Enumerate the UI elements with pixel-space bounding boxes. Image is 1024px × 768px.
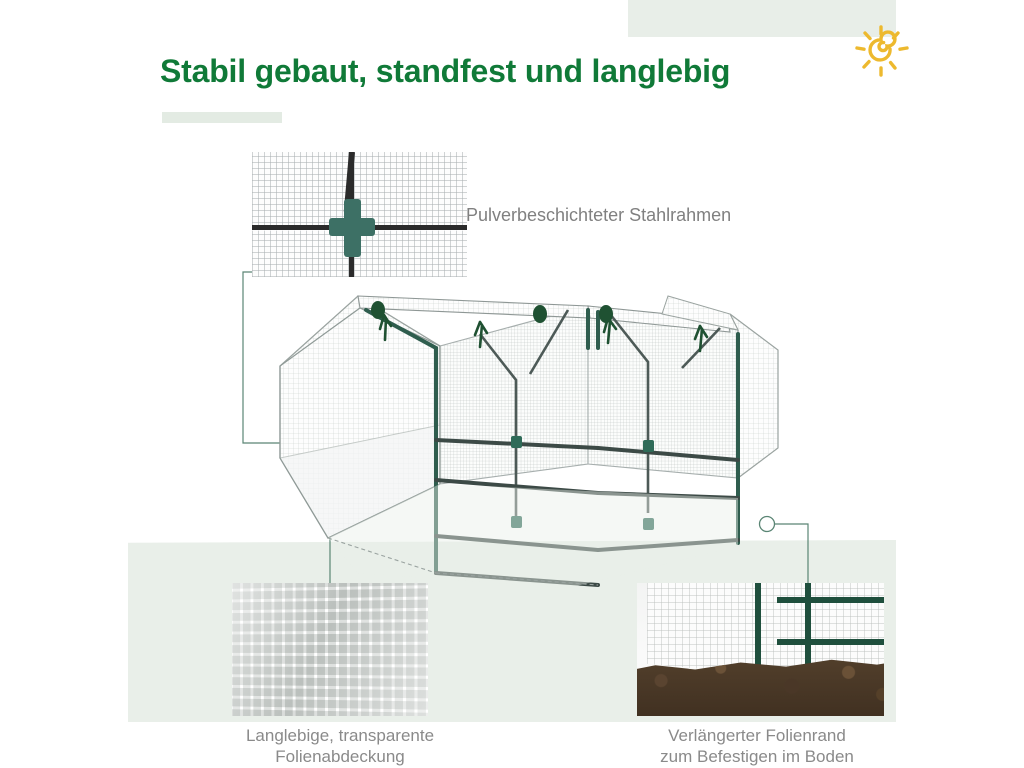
sun-spiral-icon [845,15,919,89]
soil-caption-line2: zum Befestigen im Boden [592,747,922,768]
steel-frame-label: Pulverbeschichteter Stahlrahmen [466,205,731,226]
powder-coated-steel-frame-detail-photo [252,152,467,277]
soil-caption-line1: Verlängerter Folienrand [592,726,922,747]
film-caption-line1: Langlebige, transparente [180,726,500,747]
film-sheen-overlay [232,583,428,716]
extended-film-edge-soil-detail-photo [637,583,884,716]
film-caption-line2: Folienabdeckung [180,747,500,768]
film-caption: Langlebige, transparente Folienabdeckung [180,726,500,767]
page-title: Stabil gebaut, standfest und langlebig [160,53,860,90]
frame-rail-top [777,597,884,603]
infographic-canvas: Stabil gebaut, standfest und langlebig [0,0,1024,768]
soil-caption: Verlängerter Folienrand zum Befestigen i… [592,726,922,767]
cross-connector [329,199,375,257]
frame-rail-bottom [777,639,884,645]
transparent-mesh-film-detail-photo [232,583,428,716]
mini-greenhouse-illustration [268,288,788,588]
title-underline-bar [162,112,282,123]
